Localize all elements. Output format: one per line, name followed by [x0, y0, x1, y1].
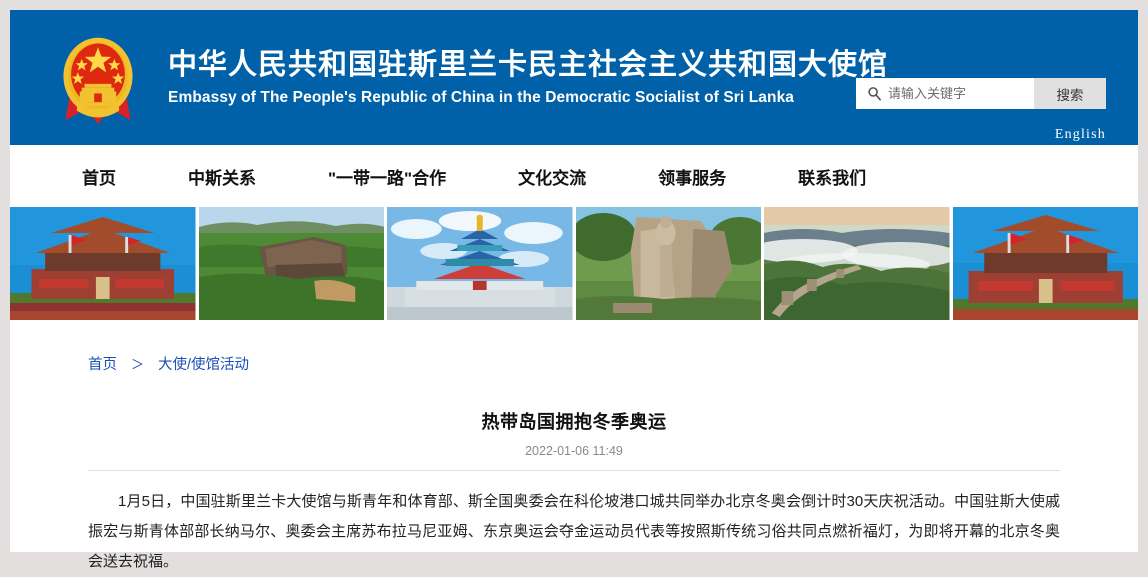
nav-item-consular-services[interactable]: 领事服务: [658, 164, 726, 189]
nav-item-china-srilanka-relations[interactable]: 中斯关系: [188, 164, 256, 189]
search-box: 搜索: [856, 78, 1106, 109]
article-date: 2022-01-06 11:49: [88, 444, 1060, 458]
banner-image-strip: [10, 207, 1138, 320]
breadcrumb: 首页 ＞ 大使/使馆活动: [88, 320, 1060, 374]
search-button[interactable]: 搜索: [1034, 78, 1106, 109]
page-container: 中华人民共和国驻斯里兰卡民主社会主义共和国大使馆 Embassy of The …: [10, 10, 1138, 552]
site-title-block: 中华人民共和国驻斯里兰卡民主社会主义共和国大使馆 Embassy of The …: [168, 48, 888, 107]
china-national-emblem-icon: [50, 32, 146, 128]
banner-image-tiananmen-gate: [10, 207, 196, 320]
nav-item-cultural-exchange[interactable]: 文化交流: [518, 164, 586, 189]
article-body: 1月5日，中国驻斯里兰卡大使馆与斯青年和体育部、斯全国奥委会在科伦坡港口城共同举…: [88, 487, 1060, 577]
chevron-right-icon: ＞: [131, 354, 144, 373]
site-title-en: Embassy of The People's Republic of Chin…: [168, 89, 888, 107]
nav-item-contact-us[interactable]: 联系我们: [798, 164, 866, 189]
main-navigation: 首页 中斯关系 "一带一路"合作 文化交流 领事服务 联系我们: [10, 145, 1138, 207]
site-title-cn: 中华人民共和国驻斯里兰卡民主社会主义共和国大使馆: [168, 48, 888, 82]
article: 热带岛国拥抱冬季奥运 2022-01-06 11:49 1月5日，中国驻斯里兰卡…: [88, 374, 1060, 577]
article-divider: [88, 470, 1060, 471]
banner-image-tiananmen-gate-2: [953, 207, 1139, 320]
english-language-link[interactable]: English: [1055, 127, 1106, 143]
nav-item-home[interactable]: 首页: [82, 164, 116, 189]
nav-item-belt-and-road[interactable]: "一带一路"合作: [328, 164, 446, 189]
site-header: 中华人民共和国驻斯里兰卡民主社会主义共和国大使馆 Embassy of The …: [10, 10, 1138, 145]
banner-image-avukana-buddha-statue: [576, 207, 762, 320]
search-input[interactable]: [888, 86, 1028, 101]
breadcrumb-current-link[interactable]: 大使/使馆活动: [158, 353, 249, 374]
search-field[interactable]: [856, 78, 1034, 109]
article-title: 热带岛国拥抱冬季奥运: [88, 408, 1060, 434]
banner-image-great-wall: [764, 207, 950, 320]
search-icon: [864, 84, 884, 104]
banner-image-sigiriya-rock: [199, 207, 385, 320]
breadcrumb-home-link[interactable]: 首页: [88, 353, 117, 374]
content-area: 首页 ＞ 大使/使馆活动 热带岛国拥抱冬季奥运 2022-01-06 11:49…: [10, 320, 1138, 577]
banner-image-temple-of-heaven: [387, 207, 573, 320]
